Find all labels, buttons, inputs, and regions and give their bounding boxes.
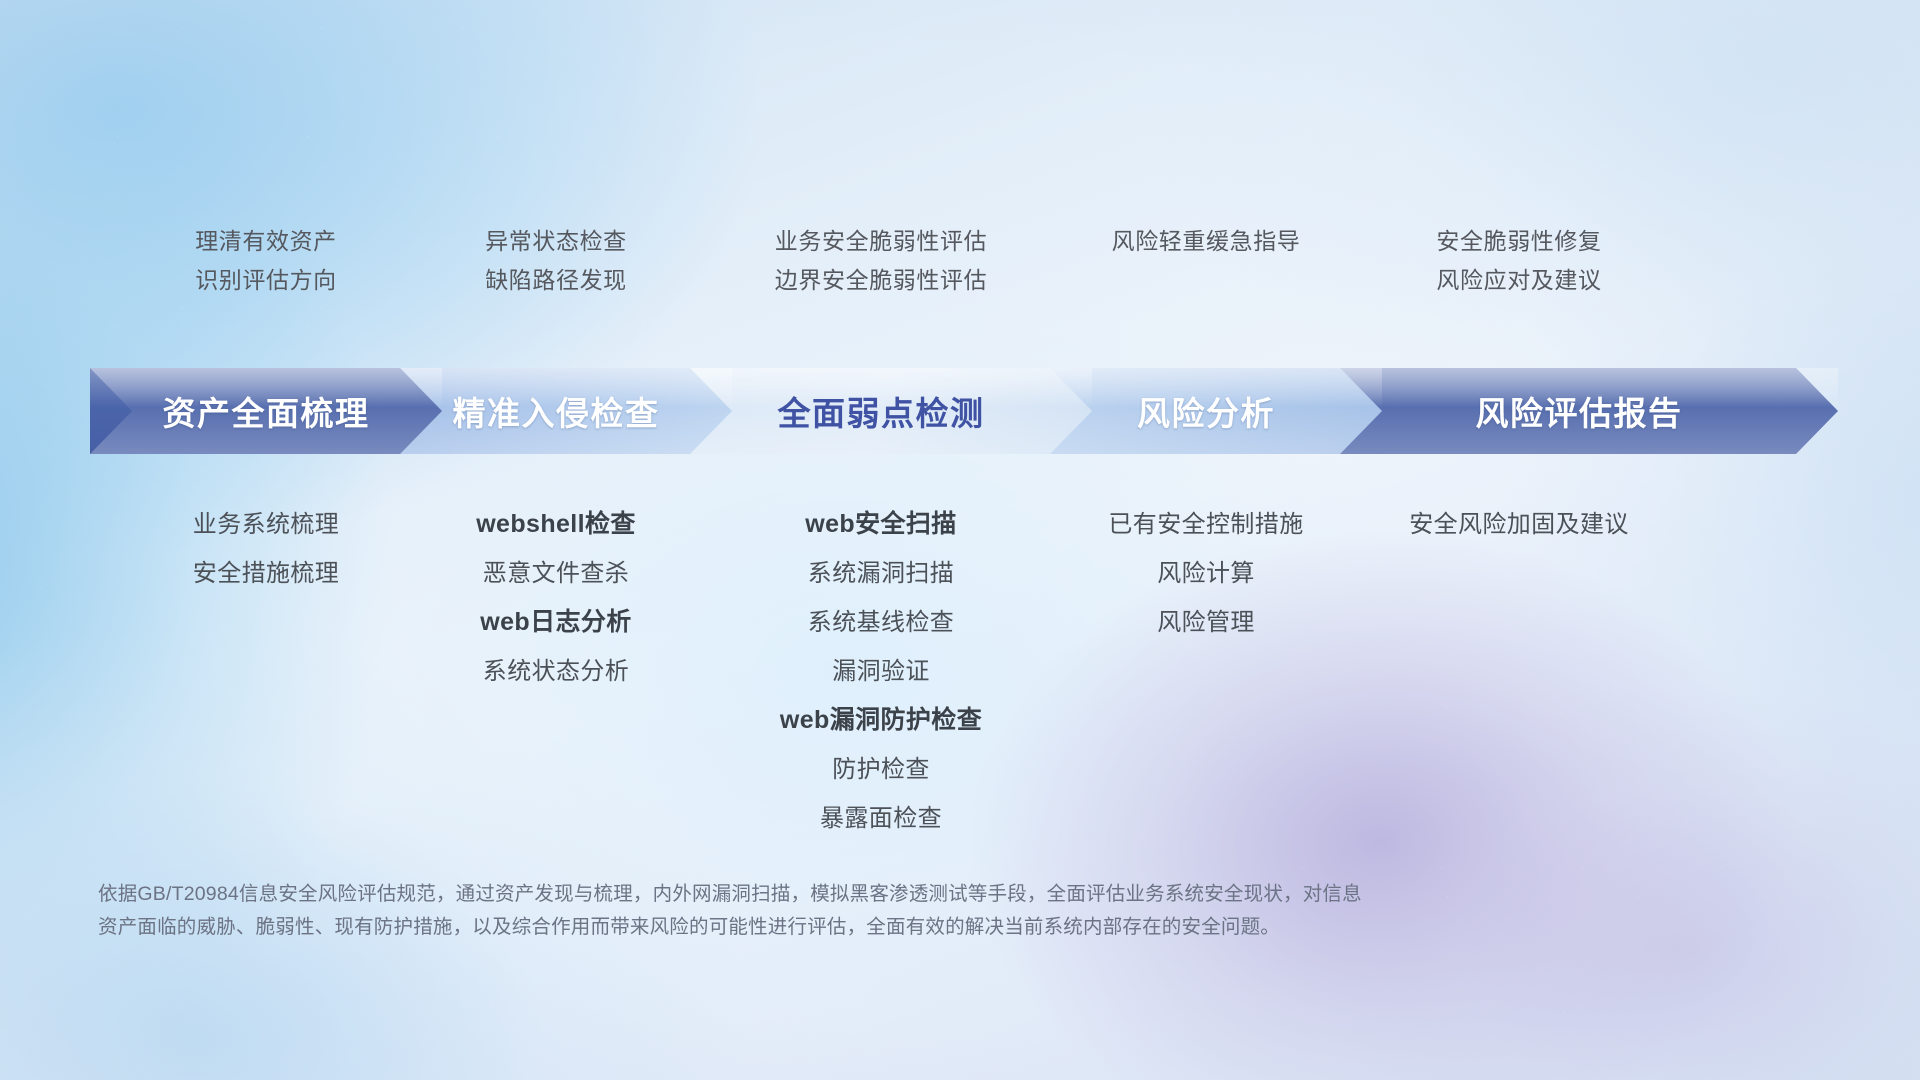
stage-title-risk-report: 风险评估报告 bbox=[1476, 387, 1683, 435]
detail-list-weakness-detection: web安全扫描系统漏洞扫描系统基线检查漏洞验证web漏洞防护检查防护检查暴露面检… bbox=[670, 500, 1092, 843]
footer-line-1: 依据GB/T20984信息安全风险评估规范，通过资产发现与梳理，内外网漏洞扫描，… bbox=[98, 878, 1618, 911]
process-stage-asset-inventory[interactable]: 资产全面梳理 bbox=[90, 368, 442, 454]
top-caption-item: 边界安全脆弱性评估 bbox=[775, 269, 987, 292]
stage-title-risk-analysis: 风险分析 bbox=[1137, 387, 1275, 435]
detail-list-item: 暴露面检查 bbox=[820, 794, 942, 843]
stage-title-asset-inventory: 资产全面梳理 bbox=[163, 387, 370, 435]
top-captions-risk-report: 安全脆弱性修复风险应对及建议 bbox=[1320, 230, 1718, 292]
stage-title-weakness-detection: 全面弱点检测 bbox=[778, 387, 985, 435]
top-caption-item: 安全脆弱性修复 bbox=[1436, 230, 1601, 253]
stage-top-captions-row: 理清有效资产识别评估方向异常状态检查缺陷路径发现业务安全脆弱性评估边界安全脆弱性… bbox=[90, 230, 1830, 340]
process-stage-risk-report[interactable]: 风险评估报告 bbox=[1320, 368, 1838, 454]
detail-list-item: 风险计算 bbox=[1157, 549, 1255, 598]
detail-list-risk-report: 安全风险加固及建议 bbox=[1320, 500, 1718, 549]
top-caption-item: 业务安全脆弱性评估 bbox=[775, 230, 987, 253]
footer-line-2: 资产面临的威胁、脆弱性、现有防护措施，以及综合作用而带来风险的可能性进行评估，全… bbox=[98, 911, 1618, 944]
footer-description: 依据GB/T20984信息安全风险评估规范，通过资产发现与梳理，内外网漏洞扫描，… bbox=[98, 878, 1618, 944]
process-chevron-band: 资产全面梳理精准入侵检查全面弱点检测风险分析风险评估报告 bbox=[90, 368, 1838, 454]
detail-list-item: 系统漏洞扫描 bbox=[808, 549, 954, 598]
detail-list-item: web日志分析 bbox=[480, 598, 631, 647]
stage-title-intrusion-check: 精准入侵检查 bbox=[453, 387, 660, 435]
detail-list-item: 系统基线检查 bbox=[808, 598, 954, 647]
detail-list-item: webshell检查 bbox=[476, 500, 636, 549]
top-caption-item: 异常状态检查 bbox=[485, 230, 627, 253]
top-caption-item: 风险轻重缓急指导 bbox=[1112, 230, 1301, 253]
diagram-content: 理清有效资产识别评估方向异常状态检查缺陷路径发现业务安全脆弱性评估边界安全脆弱性… bbox=[0, 0, 1920, 1080]
top-captions-weakness-detection: 业务安全脆弱性评估边界安全脆弱性评估 bbox=[670, 230, 1092, 292]
detail-list-item: 风险管理 bbox=[1157, 598, 1255, 647]
detail-list-item: 防护检查 bbox=[832, 745, 930, 794]
detail-list-item: web安全扫描 bbox=[805, 500, 956, 549]
detail-list-item: 系统状态分析 bbox=[483, 647, 629, 696]
detail-list-item: web漏洞防护检查 bbox=[780, 696, 982, 745]
detail-list-item: 已有安全控制措施 bbox=[1108, 500, 1303, 549]
process-stage-weakness-detection[interactable]: 全面弱点检测 bbox=[670, 368, 1092, 454]
slide-canvas: 理清有效资产识别评估方向异常状态检查缺陷路径发现业务安全脆弱性评估边界安全脆弱性… bbox=[0, 0, 1920, 1080]
detail-list-item: 业务系统梳理 bbox=[193, 500, 339, 549]
detail-list-item: 恶意文件查杀 bbox=[483, 549, 629, 598]
detail-list-item: 安全风险加固及建议 bbox=[1409, 500, 1629, 549]
top-caption-item: 理清有效资产 bbox=[195, 230, 337, 253]
top-caption-item: 缺陷路径发现 bbox=[485, 269, 627, 292]
top-caption-item: 识别评估方向 bbox=[195, 269, 337, 292]
detail-list-item: 漏洞验证 bbox=[832, 647, 930, 696]
detail-list-item: 安全措施梳理 bbox=[193, 549, 339, 598]
top-caption-item: 风险应对及建议 bbox=[1436, 269, 1601, 292]
